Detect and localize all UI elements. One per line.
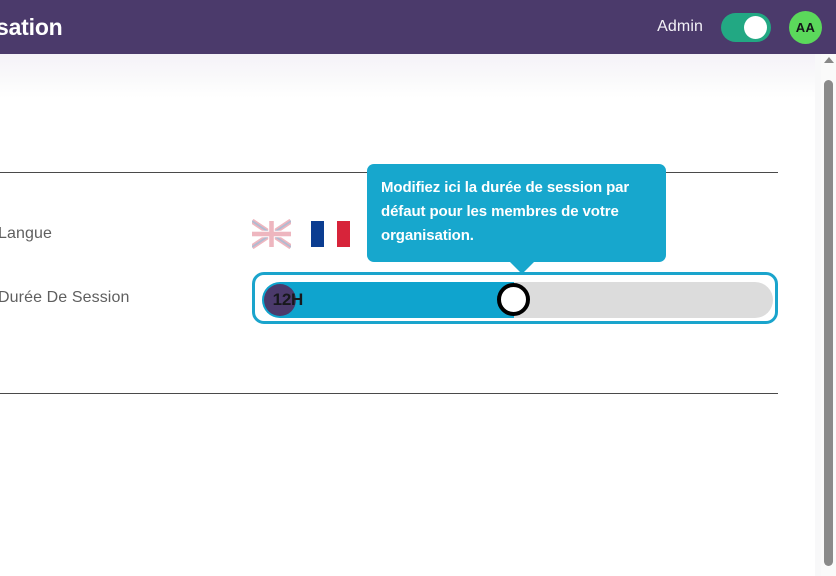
toggle-knob — [744, 16, 767, 39]
scroll-up-arrow-icon[interactable] — [824, 57, 834, 63]
slider-thumb[interactable] — [497, 283, 530, 316]
setting-label-language: Langue — [0, 225, 252, 243]
tooltip-arrow — [509, 261, 535, 274]
language-options — [252, 219, 350, 249]
vertical-scrollbar[interactable] — [821, 54, 836, 576]
content-top-gradient — [0, 54, 821, 98]
setting-row-session-duration: Durée De Session 12H — [0, 270, 778, 326]
divider-bottom — [0, 393, 778, 394]
admin-label: Admin — [657, 18, 703, 36]
slider-value-label: 12H — [273, 290, 303, 310]
avatar-initials: AA — [796, 20, 815, 35]
admin-toggle[interactable] — [721, 13, 771, 42]
flag-french-icon[interactable] — [311, 219, 350, 249]
tooltip-text: Modifiez ici la durée de session par déf… — [381, 176, 652, 248]
setting-label-session-duration: Durée De Session — [0, 289, 252, 307]
app-header: sation Admin AA — [0, 0, 836, 54]
page-body: Langue — [0, 54, 821, 576]
scroll-thumb[interactable] — [824, 80, 833, 566]
header-actions: Admin AA — [657, 11, 822, 44]
page-title: sation — [0, 14, 63, 41]
slider-track[interactable]: 12H — [262, 282, 773, 318]
session-duration-tooltip: Modifiez ici la durée de session par déf… — [367, 164, 666, 262]
avatar[interactable]: AA — [789, 11, 822, 44]
flag-english-icon[interactable] — [252, 219, 291, 249]
session-duration-slider[interactable]: 12H — [252, 272, 778, 324]
